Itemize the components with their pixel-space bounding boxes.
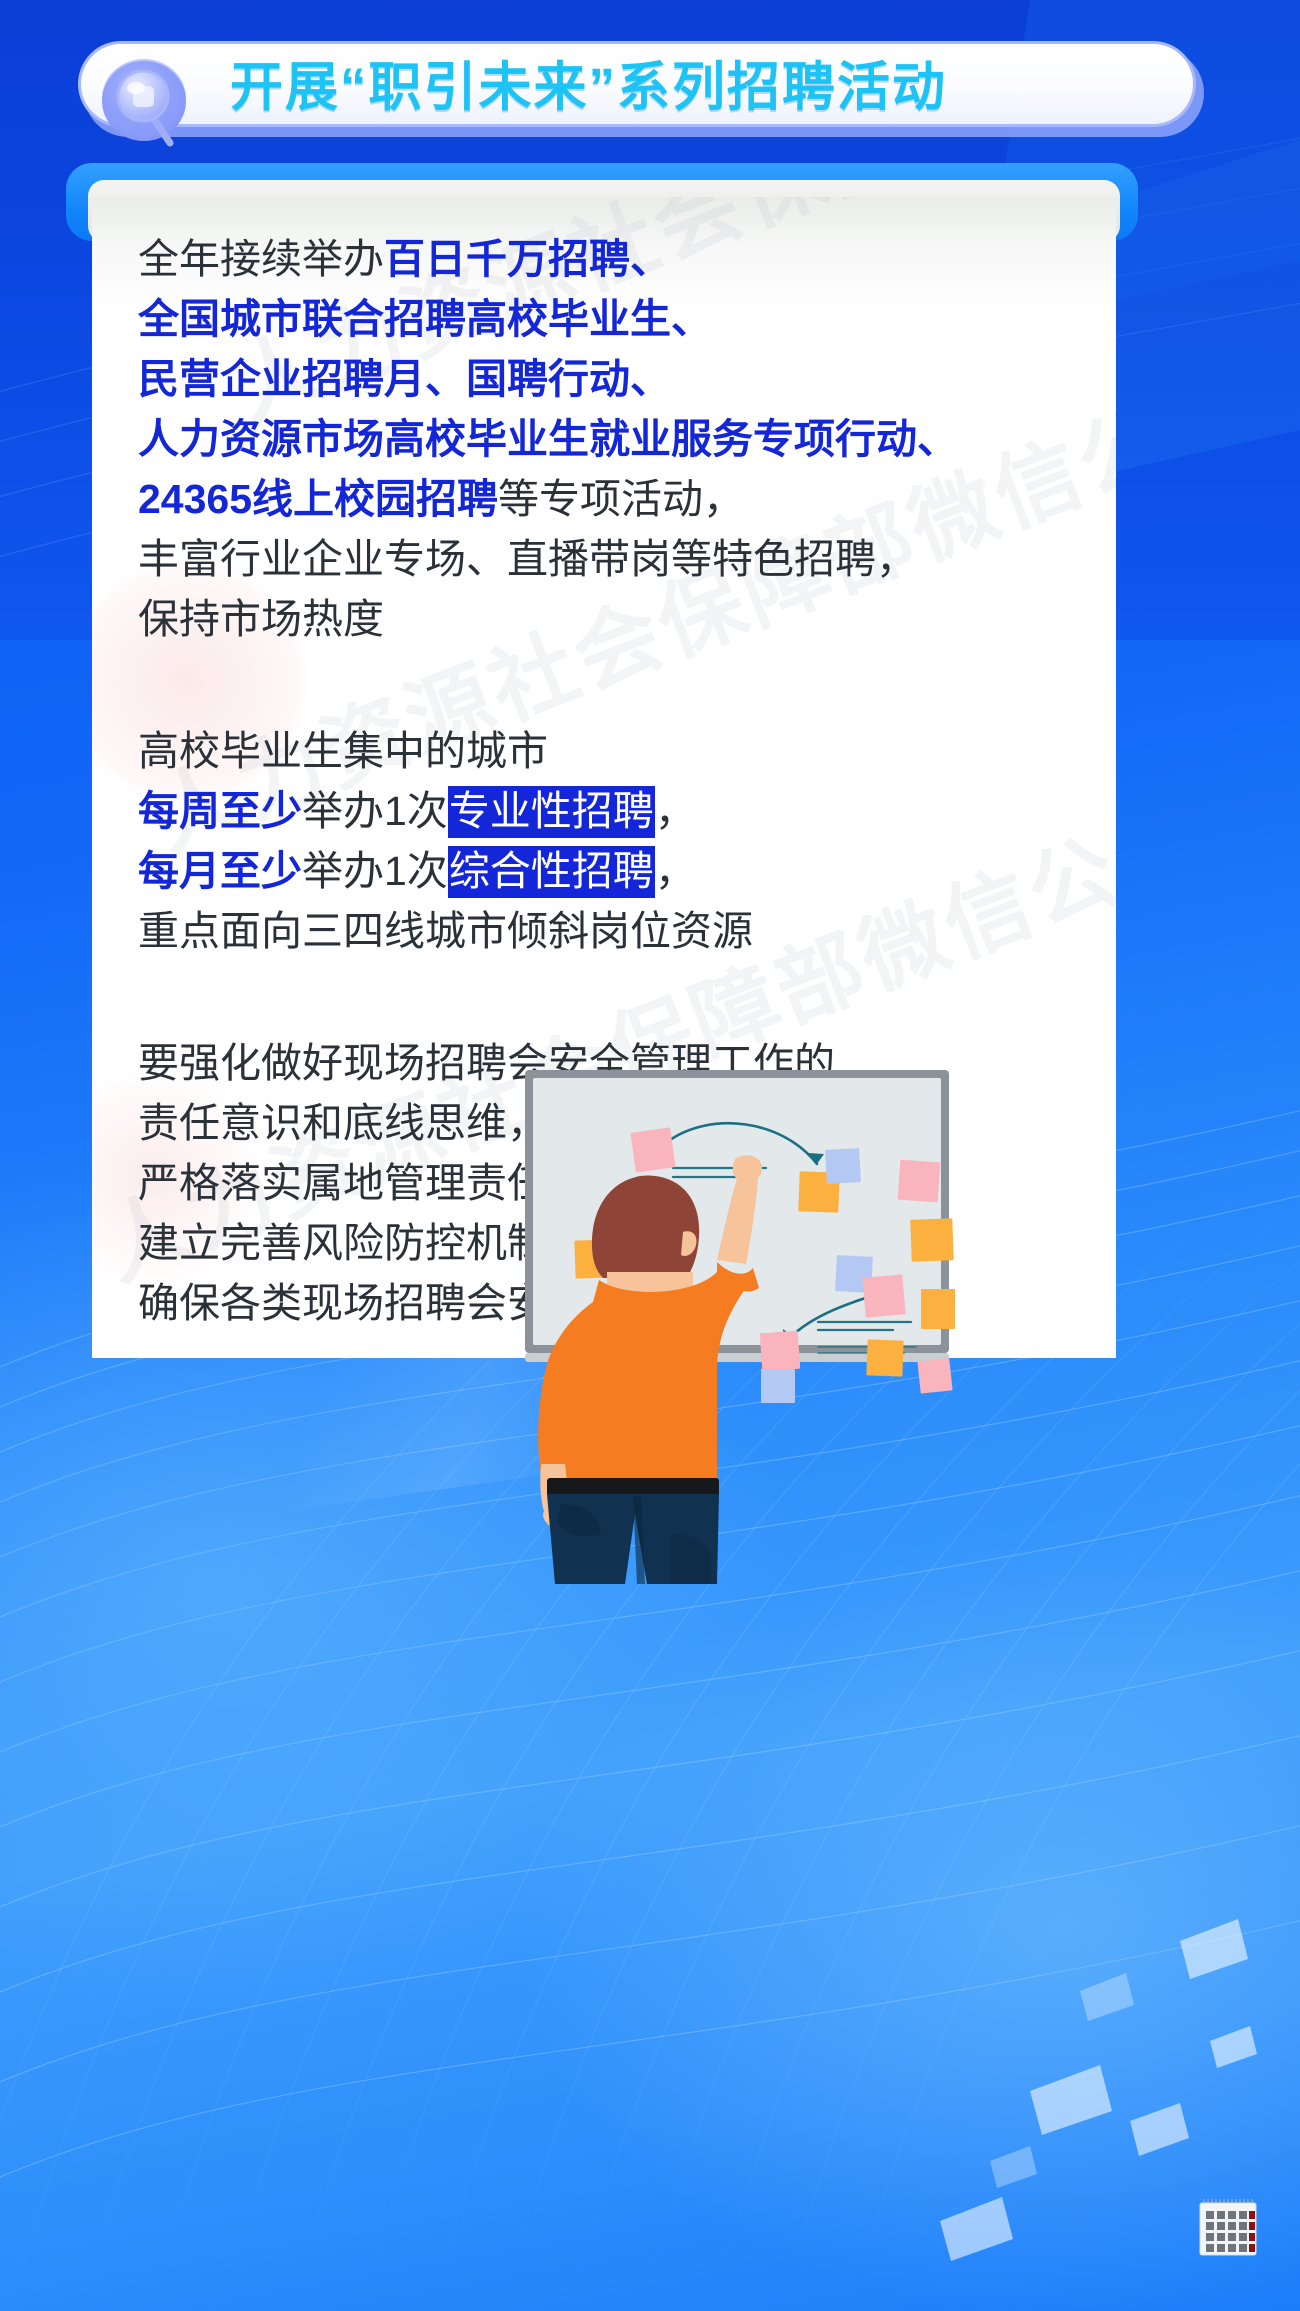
emphasis-text: 、 bbox=[671, 296, 712, 342]
text-line: 24365线上校园招聘等专项活动， bbox=[138, 469, 1088, 529]
title-banner: 开展“职引未来”系列招聘活动 bbox=[78, 41, 1204, 134]
emphasis-text: 人力资源市场高校毕业生就业服务专项行动 bbox=[138, 416, 917, 462]
highlighted-text: 综合性招聘 bbox=[448, 846, 655, 898]
text-line: 丰富行业企业专场、直播带岗等特色招聘， bbox=[138, 529, 1088, 589]
plain-text: 责任意识和底线思维， bbox=[138, 1100, 548, 1146]
plain-text: 保持市场热度 bbox=[138, 596, 384, 642]
emphasis-text: 、 bbox=[630, 236, 671, 282]
plain-text: ， bbox=[655, 788, 696, 834]
man-at-whiteboard-illustration bbox=[521, 1064, 956, 1584]
text-line: 每周至少举办1次专业性招聘， bbox=[138, 781, 1088, 841]
text-line: 全年接续举办百日千万招聘、 bbox=[138, 229, 1088, 289]
plain-text: 举办1次 bbox=[302, 848, 448, 894]
highlighted-text: 专业性招聘 bbox=[448, 786, 655, 838]
emphasis-text: 每月至少 bbox=[138, 848, 302, 894]
emphasis-text: 24365线上校园招聘 bbox=[138, 476, 498, 522]
text-line: 重点面向三四线城市倾斜岗位资源 bbox=[138, 901, 1088, 961]
paragraph-spacer bbox=[138, 961, 1088, 1033]
text-line: 民营企业招聘月、国聘行动、 bbox=[138, 349, 1088, 409]
plain-text: ， bbox=[655, 848, 696, 894]
paragraph-spacer bbox=[138, 649, 1088, 721]
text-line: 全国城市联合招聘高校毕业生、 bbox=[138, 289, 1088, 349]
calendar-icon bbox=[1196, 2196, 1260, 2260]
plain-text: 等专项活动， bbox=[498, 476, 744, 522]
emphasis-text: 国聘行动 bbox=[466, 356, 630, 402]
emphasis-text: 每周至少 bbox=[138, 788, 302, 834]
plain-text: 重点面向三四线城市倾斜岗位资源 bbox=[138, 908, 753, 954]
emphasis-text: 民营企业招聘月 bbox=[138, 356, 425, 402]
plain-text: 丰富行业企业专场、直播带岗等特色招聘， bbox=[138, 536, 917, 582]
plain-text: 举办1次 bbox=[302, 788, 448, 834]
paragraph-1: 全年接续举办百日千万招聘、全国城市联合招聘高校毕业生、民营企业招聘月、国聘行动、… bbox=[138, 229, 1088, 649]
text-line: 每月至少举办1次综合性招聘， bbox=[138, 841, 1088, 901]
paragraph-2: 高校毕业生集中的城市每周至少举办1次专业性招聘，每月至少举办1次综合性招聘，重点… bbox=[138, 721, 1088, 961]
plain-text: 全年接续举办 bbox=[138, 236, 384, 282]
text-line: 保持市场热度 bbox=[138, 589, 1088, 649]
emphasis-text: 、 bbox=[425, 356, 466, 402]
emphasis-text: 、 bbox=[630, 356, 671, 402]
emphasis-text: 全国城市联合招聘高校毕业生 bbox=[138, 296, 671, 342]
plain-text: 高校毕业生集中的城市 bbox=[138, 728, 548, 774]
text-line: 人力资源市场高校毕业生就业服务专项行动、 bbox=[138, 409, 1088, 469]
text-line: 高校毕业生集中的城市 bbox=[138, 721, 1088, 781]
emphasis-text: 、 bbox=[917, 416, 958, 462]
page-title: 开展“职引未来”系列招聘活动 bbox=[230, 55, 1178, 121]
magnifier-icon bbox=[88, 47, 204, 151]
emphasis-text: 百日千万招聘 bbox=[384, 236, 630, 282]
